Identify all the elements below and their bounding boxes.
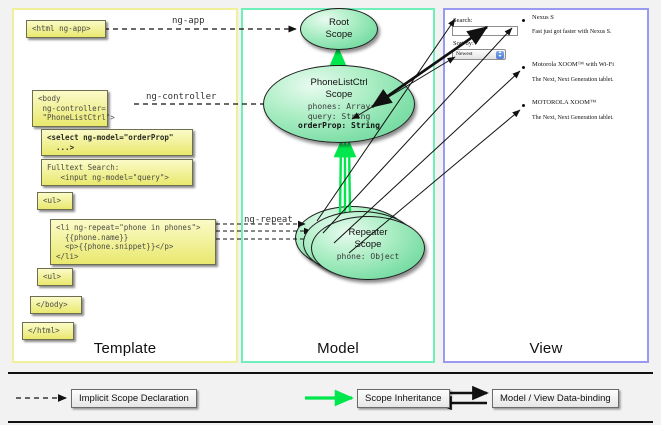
legend-item-model-view-data-binding: Model / View Data-binding bbox=[492, 389, 619, 408]
panel-model: Model bbox=[241, 8, 435, 363]
code-box-select-orderprop: <select ng-model="orderProp" ...> bbox=[41, 129, 193, 156]
scope-repeater-props: phone: Object bbox=[312, 252, 424, 262]
view-phone-snippet-2: The Next, Next Generation tablet. bbox=[532, 115, 614, 121]
scope-phonelistctrl-props: phones: Array query: String orderProp: S… bbox=[264, 102, 414, 131]
scope-repeater-title-1: Repeater bbox=[312, 227, 424, 239]
code-box-ul-close: <ul> bbox=[37, 268, 73, 286]
list-bullet-icon bbox=[522, 104, 525, 107]
panel-model-label: Model bbox=[243, 340, 433, 357]
panel-view-label: View bbox=[445, 340, 647, 357]
scope-root: Root Scope bbox=[300, 8, 378, 50]
code-box-html-open: <html ng-app> bbox=[26, 20, 106, 38]
list-bullet-icon bbox=[522, 66, 525, 69]
scope-prop-query: query: String bbox=[264, 112, 414, 122]
view-phone-name-2: MOTOROLA XOOM™ bbox=[532, 99, 596, 106]
edge-label-ng-repeat: ng-repeat bbox=[244, 215, 293, 225]
scope-repeater-title-2: Scope bbox=[312, 239, 424, 251]
view-search-input[interactable] bbox=[452, 26, 518, 36]
view-search-label: Search: bbox=[453, 17, 473, 24]
legend-item-scope-inheritance: Scope Inheritance bbox=[357, 389, 450, 408]
view-phone-name-0: Nexus S bbox=[532, 14, 554, 21]
view-sort-value: Newest bbox=[456, 51, 473, 57]
chevron-updown-icon[interactable]: ▲▼ bbox=[496, 51, 504, 59]
code-box-ul-open: <ul> bbox=[37, 192, 73, 210]
legend-item-implicit-scope-declaration: Implicit Scope Declaration bbox=[71, 389, 197, 408]
view-phone-snippet-1: The Next, Next Generation tablet. bbox=[532, 77, 614, 83]
scope-phonelistctrl-title-2: Scope bbox=[264, 89, 414, 101]
list-bullet-icon bbox=[522, 19, 525, 22]
scope-phonelistctrl: PhoneListCtrl Scope phones: Array query:… bbox=[263, 65, 415, 143]
legend: Implicit Scope Declaration Scope Inherit… bbox=[8, 372, 653, 423]
code-box-body-open: <body ng-controller= "PhoneListCtrl"> bbox=[32, 90, 108, 127]
edge-label-ng-controller: ng-controller bbox=[146, 92, 216, 102]
code-box-html-close: </html> bbox=[22, 322, 74, 340]
scope-prop-orderprop: orderProp: String bbox=[264, 121, 414, 131]
scope-repeater: Repeater Scope phone: Object bbox=[311, 216, 425, 280]
diagram-root: Template <html ng-app> <body ng-controll… bbox=[0, 0, 661, 425]
panel-template-label: Template bbox=[14, 340, 236, 357]
scope-prop-phone: phone: Object bbox=[312, 252, 424, 262]
edge-label-ng-app: ng-app bbox=[172, 16, 205, 26]
view-phone-name-1: Motorola XOOM™ with Wi-Fi bbox=[532, 61, 614, 68]
view-sort-label: Sort by: bbox=[453, 40, 474, 47]
view-sort-select[interactable]: Newest ▲▼ bbox=[452, 49, 506, 60]
code-box-li-ng-repeat: <li ng-repeat="phone in phones"> {{phone… bbox=[50, 219, 216, 265]
code-box-fulltext-search: Fulltext Search: <input ng-model="query"… bbox=[41, 159, 193, 186]
scope-prop-phones: phones: Array bbox=[264, 102, 414, 112]
scope-phonelistctrl-title-1: PhoneListCtrl bbox=[264, 77, 414, 89]
scope-root-title-1: Root bbox=[301, 17, 377, 29]
view-phone-snippet-0: Fast just got faster with Nexus S. bbox=[532, 29, 612, 35]
code-box-body-close: </body> bbox=[30, 296, 82, 314]
scope-root-title-2: Scope bbox=[301, 29, 377, 41]
